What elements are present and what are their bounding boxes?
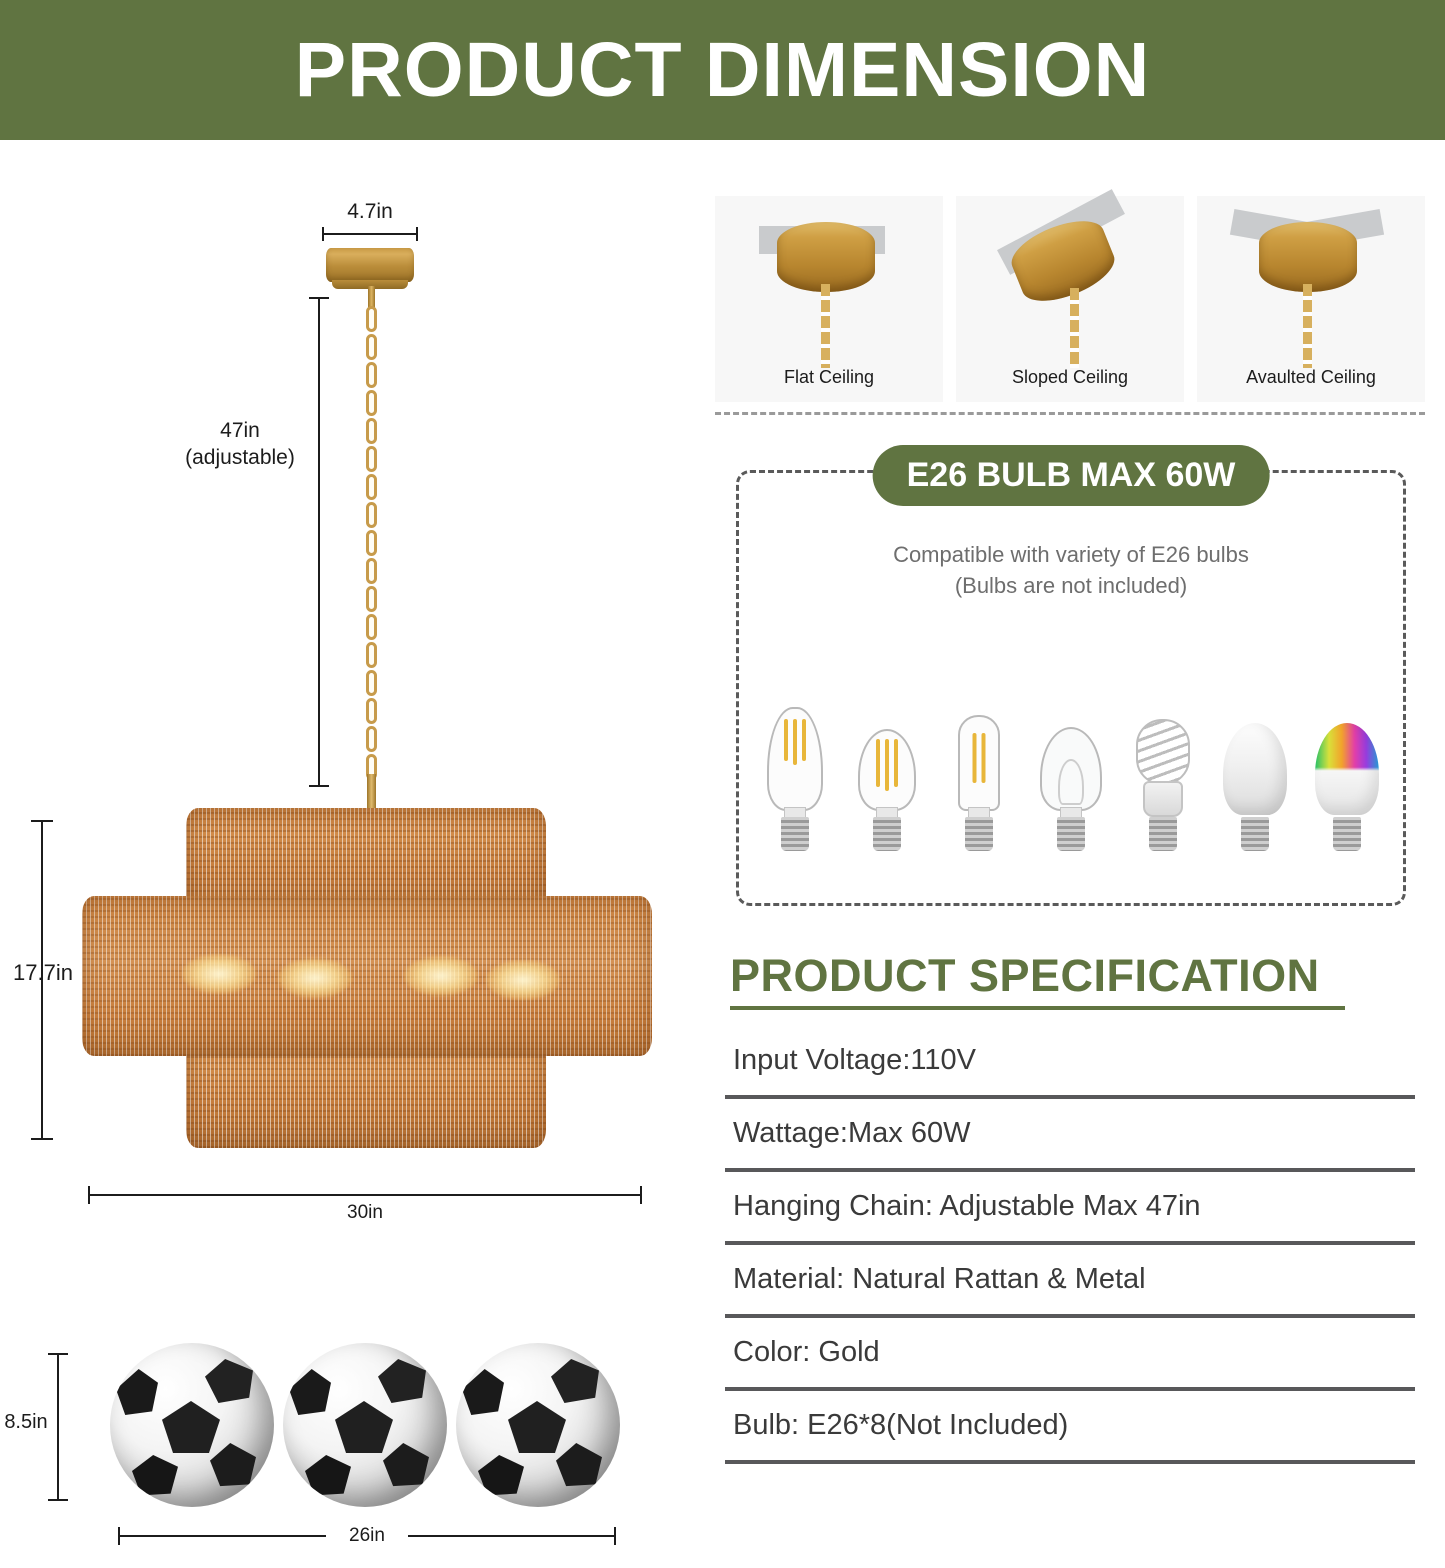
page-title: PRODUCT DIMENSION: [295, 26, 1150, 115]
chain-link: [366, 698, 377, 724]
chain-link: [366, 362, 377, 388]
bulb-glow: [182, 954, 256, 994]
filament-icon: [973, 733, 986, 783]
dimension-cap-bottom: [309, 785, 329, 787]
bulb-glow: [486, 960, 560, 1000]
ceiling-option-label: Avaulted Ceiling: [1197, 367, 1425, 388]
cfl-ballast-body: [1143, 781, 1183, 817]
dimension-cap-left: [322, 227, 324, 241]
ball-patch: [116, 1369, 158, 1415]
soccer-ball: [456, 1343, 620, 1507]
st64-edison-filament-bulb-icon: [753, 669, 837, 851]
scale-reference-group: 8.5in 26in: [0, 1325, 700, 1568]
spec-row: Material: Natural Rattan & Metal: [725, 1245, 1415, 1318]
fixture-height-label: 17.7in: [0, 960, 86, 986]
chain-link: [366, 334, 377, 360]
chain-link: [366, 614, 377, 640]
ball-patch: [305, 1455, 351, 1497]
ball-row-width-label: 26in: [118, 1525, 616, 1547]
ball-patch: [335, 1401, 393, 1453]
ball-patch: [205, 1359, 253, 1403]
clear-incandescent-bulb-icon: [1029, 669, 1113, 851]
e26-screw-base-icon: [1149, 817, 1177, 851]
chain-link: [366, 446, 377, 472]
ceiling-option-flat[interactable]: Flat Ceiling: [715, 196, 943, 402]
bulb-note-line-1: Compatible with variety of E26 bulbs: [739, 539, 1403, 570]
bulb-glow: [278, 958, 352, 998]
specification-heading: PRODUCT SPECIFICATION: [730, 950, 1320, 1002]
bulb-note-line-2: (Bulbs are not included): [739, 570, 1403, 601]
ball-patch: [378, 1359, 426, 1403]
canopy-screw-right: [396, 280, 403, 287]
hanging-chain: [364, 306, 379, 784]
e26-screw-base-icon: [1241, 817, 1269, 851]
ball-patch: [383, 1443, 429, 1487]
led-frosted-bulb-icon: [1213, 669, 1297, 851]
specification-heading-rule: [730, 1006, 1345, 1010]
ceiling-canopy: [326, 248, 414, 282]
chain-link: [366, 558, 377, 584]
a19-filament-bulb-icon: [845, 669, 929, 851]
e26-screw-base-icon: [781, 817, 809, 851]
chain-icon: [1303, 284, 1312, 368]
chain-link: [366, 642, 377, 668]
canopy-width-label: 4.7in: [322, 200, 418, 224]
dimension-cap-right: [416, 227, 418, 241]
ball-height-label: 8.5in: [0, 1411, 52, 1434]
product-info-panel: Flat Ceiling Sloped Ceiling Avaulted Cei…: [700, 140, 1445, 1428]
e26-screw-base-icon: [873, 817, 901, 851]
t45-tubular-filament-bulb-icon: [937, 669, 1021, 851]
filament-icon: [876, 739, 898, 791]
chain-link: [366, 726, 377, 752]
cfl-spiral-tube: [1136, 719, 1190, 785]
incandescent-inner-envelope: [1058, 759, 1084, 805]
chain-length-value: 47in: [170, 418, 310, 445]
ball-height-dimension-line: [57, 1353, 59, 1501]
canopy-screw-left: [336, 280, 343, 287]
chain-length-label: 47in (adjustable): [170, 418, 310, 472]
soccer-ball: [110, 1343, 274, 1507]
canopy-width-dimension: 4.7in: [322, 200, 418, 241]
rattan-chandelier-shade: [82, 808, 652, 1150]
canopy-mount-icon: [1259, 222, 1357, 292]
ball-patch: [508, 1401, 566, 1453]
filament-icon: [784, 719, 806, 765]
bulb-glass: [1223, 723, 1287, 815]
ceiling-option-sloped[interactable]: Sloped Ceiling: [956, 196, 1184, 402]
ball-patch: [132, 1455, 178, 1497]
product-dimension-diagram: 4.7in 47in (adju: [0, 140, 700, 1428]
specification-list: Input Voltage:110V Wattage:Max 60W Hangi…: [725, 1026, 1415, 1464]
dimension-cap-top: [31, 820, 53, 822]
chain-link: [366, 390, 377, 416]
spec-row: Input Voltage:110V: [725, 1026, 1415, 1099]
ceiling-option-label: Flat Ceiling: [715, 367, 943, 388]
bulb-compatibility-note: Compatible with variety of E26 bulbs (Bu…: [739, 539, 1403, 601]
ball-patch: [162, 1401, 220, 1453]
fixture-drop-rod: [367, 774, 376, 812]
section-divider: [715, 412, 1425, 415]
cfl-spiral-bulb-icon: [1121, 669, 1205, 851]
fixture-width-label: 30in: [88, 1202, 642, 1224]
canopy-mount-icon: [777, 222, 875, 292]
chain-link: [366, 418, 377, 444]
canopy-mount-icon: [1004, 210, 1121, 312]
ceiling-option-label: Sloped Ceiling: [956, 367, 1184, 388]
shade-tier-bottom: [186, 1040, 546, 1148]
e26-screw-base-icon: [1333, 817, 1361, 851]
e26-screw-base-icon: [965, 817, 993, 851]
spec-row: Wattage:Max 60W: [725, 1099, 1415, 1172]
bulb-glow: [404, 956, 478, 996]
canopy-width-rule: [322, 227, 418, 241]
e26-screw-base-icon: [1057, 817, 1085, 851]
soccer-ball: [283, 1343, 447, 1507]
chain-link: [366, 502, 377, 528]
page-header-band: PRODUCT DIMENSION: [0, 0, 1445, 140]
bulb-glass: [1040, 727, 1102, 811]
spec-row: Hanging Chain: Adjustable Max 47in: [725, 1172, 1415, 1245]
ball-patch: [551, 1359, 599, 1403]
ball-row-width-dimension-line: 26in: [118, 1527, 616, 1545]
ball-patch: [556, 1443, 602, 1487]
chain-icon: [821, 284, 830, 368]
compatible-bulb-row: [753, 651, 1389, 851]
dimension-cap-bottom: [31, 1138, 53, 1140]
canopy-stem: [368, 286, 375, 308]
dimension-cap-top: [48, 1353, 68, 1355]
ball-patch: [289, 1369, 331, 1415]
dimension-cap-top: [309, 297, 329, 299]
chain-link: [366, 530, 377, 556]
ceiling-compatibility-row: Flat Ceiling Sloped Ceiling Avaulted Cei…: [715, 196, 1425, 402]
ball-patch: [462, 1369, 504, 1415]
ball-patch: [478, 1455, 524, 1497]
chain-icon: [1070, 288, 1079, 368]
shade-tier-middle: [82, 896, 652, 1056]
chain-length-dimension-line: [318, 297, 320, 787]
ceiling-option-avaulted[interactable]: Avaulted Ceiling: [1197, 196, 1425, 402]
bulb-compatibility-box: E26 BULB MAX 60W Compatible with variety…: [736, 470, 1406, 906]
rgb-smart-bulb-icon: [1305, 669, 1389, 851]
chain-link: [366, 306, 377, 332]
bulb-glass: [1315, 723, 1379, 815]
ball-patch: [210, 1443, 256, 1487]
dimension-cap-bottom: [48, 1499, 68, 1501]
spec-row: Color: Gold: [725, 1318, 1415, 1391]
bulb-max-wattage-badge: E26 BULB MAX 60W: [873, 445, 1270, 506]
chain-length-note: (adjustable): [170, 445, 310, 472]
chain-link: [366, 474, 377, 500]
chain-link: [366, 586, 377, 612]
chain-link: [366, 670, 377, 696]
